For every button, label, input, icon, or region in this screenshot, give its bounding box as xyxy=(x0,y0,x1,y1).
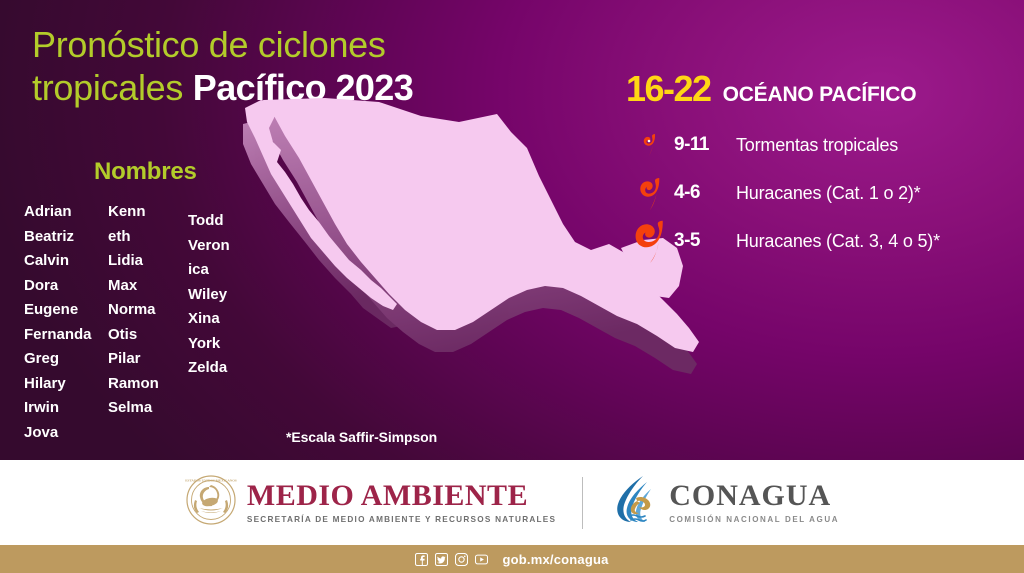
conagua-wordmark: CONAGUA COMISIÓN NACIONAL DEL AGUA xyxy=(669,481,839,524)
logo-divider xyxy=(582,477,583,529)
name-item: Otis xyxy=(108,323,188,348)
title-line-1: Pronóstico de ciclones xyxy=(32,24,386,65)
tropical-storm-icon xyxy=(626,132,674,158)
name-item: Pilar xyxy=(108,347,188,372)
forecast-count: 9-11 xyxy=(674,134,736,156)
name-item: Todd xyxy=(188,209,260,234)
semarnat-logo: ESTADOS UNIDOS MEXICANOS MEDIO AMBIENTE … xyxy=(185,474,556,531)
semarnat-wordmark: MEDIO AMBIENTE SECRETARÍA DE MEDIO AMBIE… xyxy=(247,481,556,524)
social-bar: gob.mx/conagua xyxy=(0,545,1024,573)
saffir-simpson-note: *Escala Saffir-Simpson xyxy=(286,429,437,445)
name-item: Beatriz xyxy=(24,225,108,250)
name-item: ica xyxy=(188,258,260,283)
name-item: Greg xyxy=(24,347,108,372)
name-item: Calvin xyxy=(24,249,108,274)
names-heading: Nombres xyxy=(94,158,197,186)
forecast-count: 3-5 xyxy=(674,230,736,252)
forecast-total-row: 16-22 OCÉANO PACÍFICO xyxy=(626,68,1018,110)
forecast-basin-label: OCÉANO PACÍFICO xyxy=(723,83,917,107)
conagua-tagline: COMISIÓN NACIONAL DEL AGUA xyxy=(669,515,839,524)
name-item: Zelda xyxy=(188,356,260,381)
forecast-label: Huracanes (Cat. 1 o 2)* xyxy=(736,183,921,204)
name-item: Kenn xyxy=(108,200,188,225)
forecast-row-hurricanes-cat345: 3-5 Huracanes (Cat. 3, 4 o 5)* xyxy=(626,220,1018,262)
hurricane-cat345-icon xyxy=(626,219,674,263)
name-item: Jova xyxy=(24,421,108,446)
name-item: Veron xyxy=(188,234,260,259)
mexican-coat-of-arms-icon: ESTADOS UNIDOS MEXICANOS xyxy=(185,474,237,531)
website-url[interactable]: gob.mx/conagua xyxy=(502,552,608,567)
forecast-row-tropical-storms: 9-11 Tormentas tropicales xyxy=(626,124,1018,166)
conagua-logo: CONAGUA COMISIÓN NACIONAL DEL AGUA xyxy=(609,474,839,531)
forecast-row-hurricanes-cat12: 4-6 Huracanes (Cat. 1 o 2)* xyxy=(626,172,1018,214)
name-item: Xina xyxy=(188,307,260,332)
forecast-count: 4-6 xyxy=(674,182,736,204)
title-line-2-plain: tropicales xyxy=(32,67,193,108)
name-item: Fernanda xyxy=(24,323,108,348)
conagua-name: CONAGUA xyxy=(669,481,839,511)
forecast-label: Tormentas tropicales xyxy=(736,135,898,156)
name-item: Dora xyxy=(24,274,108,299)
forecast-label: Huracanes (Cat. 3, 4 o 5)* xyxy=(736,231,940,252)
name-item: Wiley xyxy=(188,283,260,308)
name-item: York xyxy=(188,332,260,357)
name-item: Max xyxy=(108,274,188,299)
youtube-icon[interactable] xyxy=(475,553,488,566)
page-title: Pronóstico de ciclones tropicales Pacífi… xyxy=(32,24,592,110)
svg-text:ESTADOS UNIDOS MEXICANOS: ESTADOS UNIDOS MEXICANOS xyxy=(185,479,237,483)
name-item: Eugene xyxy=(24,298,108,323)
name-item: eth xyxy=(108,225,188,250)
semarnat-name: MEDIO AMBIENTE xyxy=(247,481,556,511)
instagram-icon[interactable] xyxy=(455,553,468,566)
name-item: Hilary xyxy=(24,372,108,397)
name-item: Ramon xyxy=(108,372,188,397)
forecast-panel: 16-22 OCÉANO PACÍFICO 9-11 Tormentas tro… xyxy=(626,68,1018,262)
names-column-3: Todd Veron ica Wiley Xina York Zelda xyxy=(188,200,260,445)
name-item: Adrian xyxy=(24,200,108,225)
semarnat-tagline: SECRETARÍA DE MEDIO AMBIENTE Y RECURSOS … xyxy=(247,515,556,524)
name-item: Selma xyxy=(108,396,188,421)
name-item: Lidia xyxy=(108,249,188,274)
infographic-canvas: Pronóstico de ciclones tropicales Pacífi… xyxy=(0,0,1024,573)
footer-logo-band: ESTADOS UNIDOS MEXICANOS MEDIO AMBIENTE … xyxy=(0,460,1024,545)
names-column-1: Adrian Beatriz Calvin Dora Eugene Fernan… xyxy=(24,200,108,445)
name-item: Norma xyxy=(108,298,188,323)
facebook-icon[interactable] xyxy=(415,553,428,566)
names-columns: Adrian Beatriz Calvin Dora Eugene Fernan… xyxy=(24,200,292,445)
hurricane-cat12-icon xyxy=(626,176,674,211)
twitter-icon[interactable] xyxy=(435,553,448,566)
conagua-water-eagle-icon xyxy=(609,474,659,531)
forecast-total-count: 16-22 xyxy=(626,68,711,110)
names-column-2: Kenn eth Lidia Max Norma Otis Pilar Ramo… xyxy=(108,200,188,445)
footer-logos: ESTADOS UNIDOS MEXICANOS MEDIO AMBIENTE … xyxy=(0,460,1024,545)
name-item: Irwin xyxy=(24,396,108,421)
